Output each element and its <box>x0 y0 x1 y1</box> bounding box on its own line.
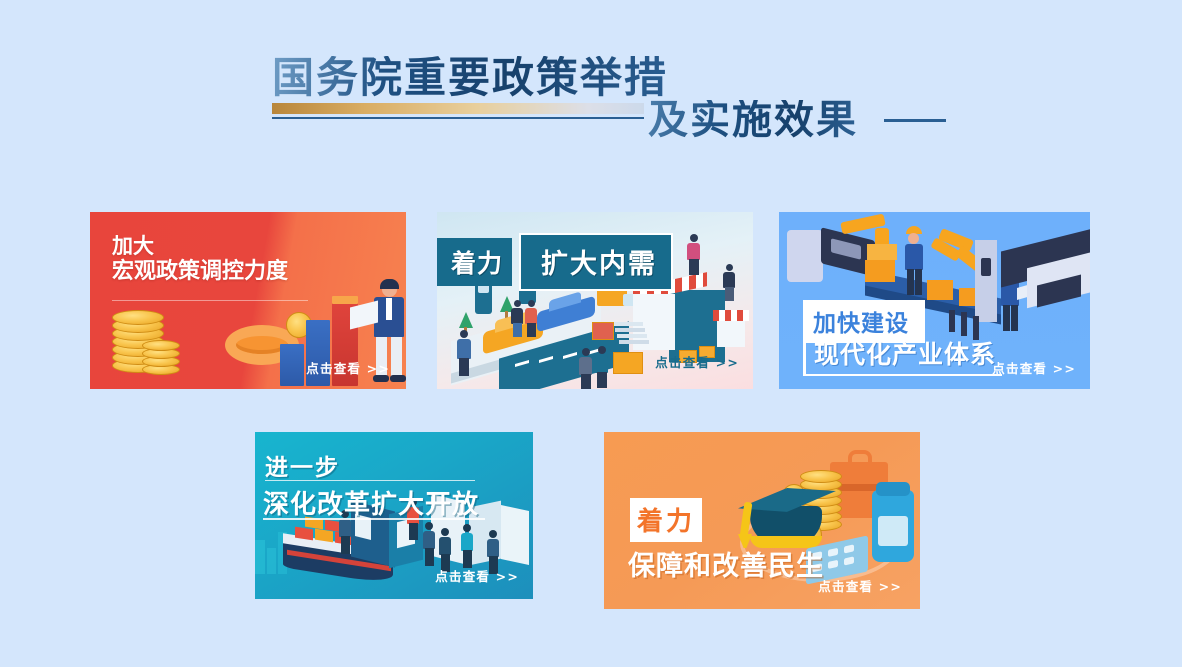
card-macro-policy-title-line2: 宏观政策调控力度 <box>112 259 288 285</box>
card-macro-policy-title-line1: 加大 <box>112 234 288 259</box>
card-reform-opening-rule-1 <box>265 480 475 481</box>
card-livelihood-title-tag: 着力 <box>630 498 702 542</box>
card-livelihood-title-tag-text: 着力 <box>637 507 695 537</box>
gold-accent-bar <box>272 103 644 114</box>
page-header: 国务院重要政策举措 及实施效果 <box>0 0 1182 185</box>
card-domestic-demand-cta[interactable]: 点击查看 >> <box>655 352 739 371</box>
card-macro-policy[interactable]: 加大 宏观政策调控力度 点击查看 >> <box>90 212 406 389</box>
crate-2 <box>867 244 897 260</box>
stairs-step-3 <box>617 334 647 338</box>
pipe-2 <box>961 312 967 336</box>
card-livelihood-cta[interactable]: 点击查看 >> <box>818 576 902 595</box>
crate-3 <box>927 280 953 300</box>
title-tail-rule <box>884 119 946 122</box>
page-title-line2: 及实施效果 <box>648 100 858 140</box>
card-livelihood[interactable]: 着力 保障和改善民生 点击查看 >> <box>604 432 920 609</box>
stairs-step-4 <box>619 340 649 344</box>
card-reform-opening-title-line2: 深化改革扩大开放 <box>263 484 479 521</box>
card-livelihood-title-line2: 保障和改善民生 <box>628 544 824 583</box>
bar-chart-bar-1 <box>280 344 304 386</box>
card-modern-industry[interactable]: 加快建设 现代化产业体系 点击查看 >> <box>779 212 1090 389</box>
card-macro-policy-cta[interactable]: 点击查看 >> <box>306 358 390 377</box>
stairs-step-2 <box>615 328 645 332</box>
title-underline-rule <box>272 117 644 119</box>
machine-left-body <box>787 230 823 282</box>
card-reform-opening-cta[interactable]: 点击查看 >> <box>435 566 519 585</box>
page-title-block: 国务院重要政策举措 <box>272 56 668 119</box>
skyline-bar-2 <box>267 548 276 574</box>
briefcase-handle <box>848 450 872 464</box>
card-domestic-demand[interactable]: 着力 扩大内需 点击查看 >> <box>437 212 753 389</box>
card-modern-industry-title-line2: 现代化产业体系 <box>814 340 996 369</box>
card-reform-opening-title-line1: 进一步 <box>265 448 340 482</box>
card-domestic-demand-title-tag: 着力 <box>437 238 512 286</box>
parcel-orange <box>613 352 643 374</box>
column-panel <box>981 258 991 276</box>
pipe-1 <box>949 310 955 332</box>
kiosk-body <box>717 321 745 347</box>
medicine-jar-label <box>878 516 908 546</box>
card-reform-opening[interactable]: 进一步 深化改革扩大开放 点击查看 >> <box>255 432 533 599</box>
booth-5 <box>501 505 529 565</box>
bar-chart-bar-3-top <box>332 296 358 304</box>
card-modern-industry-cta[interactable]: 点击查看 >> <box>992 358 1076 377</box>
crate-1 <box>865 260 895 282</box>
card-modern-industry-title-line2-wrap: 现代化产业体系 <box>803 334 1002 376</box>
card-macro-policy-title-rule <box>112 300 308 301</box>
stairs-step-1 <box>613 322 643 326</box>
card-domestic-demand-title-tag-text: 着力 <box>451 249 503 278</box>
card-domestic-demand-title-line2: 扩大内需 <box>541 249 657 280</box>
skyline-bar-1 <box>255 540 265 574</box>
kiosk-awning <box>713 310 749 321</box>
medicine-jar-lid <box>876 482 910 496</box>
page-title-line1: 国务院重要政策举措 <box>272 56 668 100</box>
support-column <box>975 240 997 322</box>
page-subtitle-block: 及实施效果 <box>648 100 946 140</box>
card-reform-opening-rule-2 <box>263 518 485 520</box>
parcel-red <box>592 322 614 340</box>
card-macro-policy-title: 加大 宏观政策调控力度 <box>112 234 288 285</box>
card-domestic-demand-title-box: 扩大内需 <box>519 233 673 291</box>
